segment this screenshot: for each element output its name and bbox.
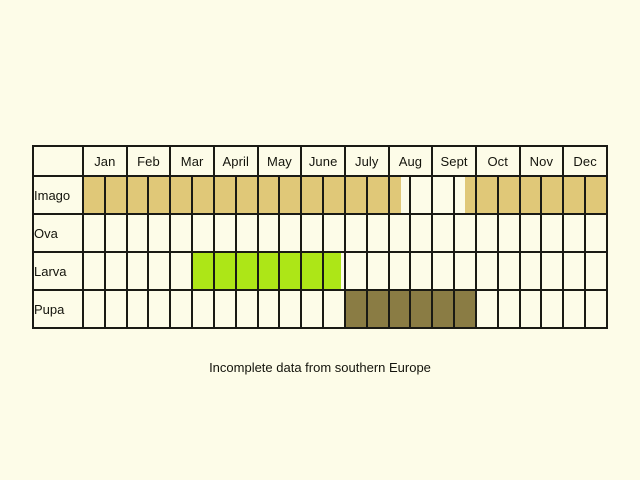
phenology-cell xyxy=(454,176,476,214)
stage-label-ova: Ova xyxy=(33,214,83,252)
phenology-cell xyxy=(127,252,149,290)
phenology-chart: JanFebMarAprilMayJuneJulyAugSeptOctNovDe… xyxy=(32,145,608,329)
phenology-cell xyxy=(432,176,454,214)
phenology-cell xyxy=(170,290,192,328)
phenology-cell xyxy=(585,252,607,290)
table-header: JanFebMarAprilMayJuneJulyAugSeptOctNovDe… xyxy=(33,146,607,176)
stage-label-larva: Larva xyxy=(33,252,83,290)
month-header-mar: Mar xyxy=(170,146,214,176)
month-header-nov: Nov xyxy=(520,146,564,176)
phenology-cell xyxy=(170,214,192,252)
phenology-cell xyxy=(83,252,105,290)
cell-fill xyxy=(215,253,235,289)
cell-fill xyxy=(259,177,279,213)
cell-fill xyxy=(411,291,431,327)
phenology-cell xyxy=(83,214,105,252)
phenology-cell xyxy=(214,176,236,214)
phenology-cell xyxy=(520,290,542,328)
phenology-cell xyxy=(520,252,542,290)
phenology-cell xyxy=(105,214,127,252)
phenology-cell xyxy=(170,252,192,290)
phenology-cell xyxy=(389,290,411,328)
phenology-cell xyxy=(389,214,411,252)
phenology-cell xyxy=(585,176,607,214)
cell-fill xyxy=(324,177,344,213)
phenology-cell xyxy=(323,214,345,252)
phenology-cell xyxy=(127,290,149,328)
phenology-cell xyxy=(585,214,607,252)
phenology-cell xyxy=(563,214,585,252)
phenology-cell xyxy=(541,176,563,214)
phenology-cell xyxy=(127,176,149,214)
phenology-cell xyxy=(236,252,258,290)
phenology-cell xyxy=(563,290,585,328)
cell-fill xyxy=(302,253,322,289)
month-header-oct: Oct xyxy=(476,146,520,176)
phenology-cell xyxy=(301,290,323,328)
cell-fill xyxy=(465,177,475,213)
phenology-cell xyxy=(148,290,170,328)
phenology-cell xyxy=(236,290,258,328)
phenology-cell xyxy=(258,252,280,290)
stage-row: Ova xyxy=(33,214,607,252)
phenology-cell xyxy=(541,214,563,252)
cell-fill xyxy=(149,177,169,213)
phenology-cell xyxy=(432,252,454,290)
phenology-cell xyxy=(279,214,301,252)
phenology-cell xyxy=(498,252,520,290)
phenology-cell xyxy=(345,214,367,252)
cell-fill xyxy=(280,253,300,289)
phenology-cell xyxy=(258,214,280,252)
phenology-cell xyxy=(585,290,607,328)
phenology-cell xyxy=(476,290,498,328)
chart-caption: Incomplete data from southern Europe xyxy=(32,360,608,375)
phenology-cell xyxy=(454,214,476,252)
phenology-cell xyxy=(105,176,127,214)
phenology-cell xyxy=(410,290,432,328)
phenology-cell xyxy=(148,176,170,214)
cell-fill xyxy=(390,291,410,327)
phenology-cell xyxy=(410,252,432,290)
cell-fill xyxy=(171,177,191,213)
stage-row: Larva xyxy=(33,252,607,290)
phenology-cell xyxy=(170,176,192,214)
phenology-cell xyxy=(301,252,323,290)
phenology-table: JanFebMarAprilMayJuneJulyAugSeptOctNovDe… xyxy=(32,145,608,329)
phenology-cell xyxy=(410,214,432,252)
phenology-cell xyxy=(454,252,476,290)
month-header-sept: Sept xyxy=(432,146,476,176)
stage-label-imago: Imago xyxy=(33,176,83,214)
phenology-cell xyxy=(192,290,214,328)
phenology-cell xyxy=(367,290,389,328)
phenology-cell xyxy=(432,214,454,252)
phenology-cell xyxy=(476,214,498,252)
phenology-cell xyxy=(541,252,563,290)
phenology-cell xyxy=(476,176,498,214)
phenology-cell xyxy=(432,290,454,328)
month-header-aug: Aug xyxy=(389,146,433,176)
phenology-cell xyxy=(454,290,476,328)
phenology-cell xyxy=(389,252,411,290)
phenology-cell xyxy=(476,252,498,290)
phenology-cell xyxy=(105,290,127,328)
month-header-april: April xyxy=(214,146,258,176)
phenology-cell xyxy=(83,290,105,328)
cell-fill xyxy=(302,177,322,213)
header-corner-cell xyxy=(33,146,83,176)
stage-row: Imago xyxy=(33,176,607,214)
cell-fill xyxy=(477,177,497,213)
month-header-feb: Feb xyxy=(127,146,171,176)
phenology-cell xyxy=(367,214,389,252)
phenology-cell xyxy=(279,290,301,328)
cell-fill xyxy=(542,177,562,213)
phenology-cell xyxy=(148,252,170,290)
phenology-cell xyxy=(214,290,236,328)
cell-fill xyxy=(237,253,257,289)
cell-fill xyxy=(346,177,366,213)
cell-fill xyxy=(455,291,475,327)
phenology-cell xyxy=(301,214,323,252)
phenology-cell xyxy=(498,214,520,252)
month-header-june: June xyxy=(301,146,345,176)
cell-fill xyxy=(280,177,300,213)
phenology-cell xyxy=(192,176,214,214)
cell-fill xyxy=(390,177,401,213)
phenology-cell xyxy=(345,252,367,290)
phenology-cell xyxy=(192,214,214,252)
phenology-cell xyxy=(389,176,411,214)
cell-fill xyxy=(499,177,519,213)
cell-fill xyxy=(84,177,104,213)
phenology-cell xyxy=(258,290,280,328)
phenology-cell xyxy=(345,176,367,214)
cell-fill xyxy=(215,177,235,213)
phenology-cell xyxy=(367,176,389,214)
phenology-cell xyxy=(498,290,520,328)
phenology-cell xyxy=(279,252,301,290)
phenology-cell xyxy=(258,176,280,214)
phenology-cell xyxy=(541,290,563,328)
phenology-cell xyxy=(236,176,258,214)
cell-fill xyxy=(106,177,126,213)
month-header-row: JanFebMarAprilMayJuneJulyAugSeptOctNovDe… xyxy=(33,146,607,176)
phenology-cell xyxy=(279,176,301,214)
cell-fill xyxy=(368,177,388,213)
phenology-cell xyxy=(148,214,170,252)
cell-fill xyxy=(193,253,213,289)
phenology-cell xyxy=(498,176,520,214)
phenology-cell xyxy=(563,252,585,290)
stage-label-pupa: Pupa xyxy=(33,290,83,328)
phenology-cell xyxy=(410,176,432,214)
month-header-july: July xyxy=(345,146,389,176)
phenology-cell xyxy=(323,176,345,214)
phenology-cell xyxy=(127,214,149,252)
month-header-dec: Dec xyxy=(563,146,607,176)
table-body: ImagoOvaLarvaPupa xyxy=(33,176,607,328)
phenology-cell xyxy=(214,214,236,252)
phenology-cell xyxy=(192,252,214,290)
cell-fill xyxy=(324,253,341,289)
phenology-cell xyxy=(345,290,367,328)
phenology-cell xyxy=(367,252,389,290)
phenology-cell xyxy=(563,176,585,214)
phenology-cell xyxy=(301,176,323,214)
phenology-cell xyxy=(83,176,105,214)
cell-fill xyxy=(521,177,541,213)
cell-fill xyxy=(237,177,257,213)
phenology-cell xyxy=(214,252,236,290)
phenology-cell xyxy=(520,214,542,252)
phenology-cell xyxy=(520,176,542,214)
cell-fill xyxy=(128,177,148,213)
month-header-jan: Jan xyxy=(83,146,127,176)
phenology-cell xyxy=(105,252,127,290)
phenology-cell xyxy=(323,290,345,328)
phenology-cell xyxy=(323,252,345,290)
cell-fill xyxy=(259,253,279,289)
cell-fill xyxy=(368,291,388,327)
cell-fill xyxy=(346,291,366,327)
stage-row: Pupa xyxy=(33,290,607,328)
cell-fill xyxy=(193,177,213,213)
month-header-may: May xyxy=(258,146,302,176)
cell-fill xyxy=(586,177,606,213)
cell-fill xyxy=(433,291,453,327)
phenology-cell xyxy=(236,214,258,252)
cell-fill xyxy=(564,177,584,213)
